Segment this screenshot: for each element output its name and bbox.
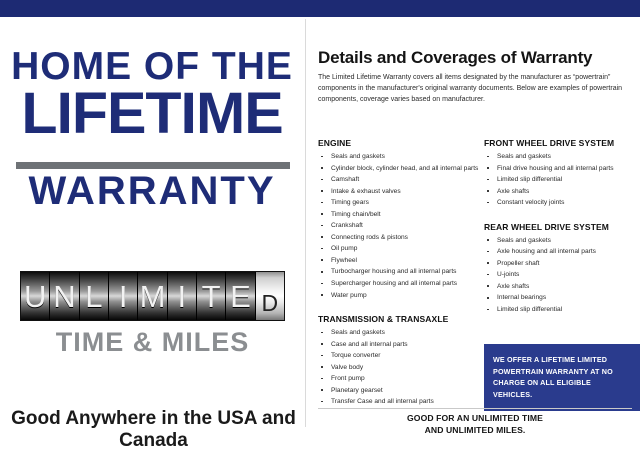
list-item: Seals and gaskets — [318, 328, 481, 337]
section-heading-rear-wheel-drive: REAR WHEEL DRIVE SYSTEM — [484, 222, 640, 232]
list-item: Crankshaft — [318, 221, 481, 230]
section-heading-transmission: TRANSMISSION & TRANSAXLE — [318, 314, 481, 324]
list-item: Seals and gaskets — [484, 236, 640, 245]
list-item: Camshaft — [318, 175, 481, 184]
list-item: Water pump — [318, 291, 481, 300]
list-item: Limited slip differential — [484, 305, 640, 314]
list-item: U-joints — [484, 270, 640, 279]
headline-line-2: LIFETIME — [1, 85, 303, 143]
left-brand-panel: HOME OF THE LIFETIME WARRANTY U N L I M … — [0, 19, 305, 427]
list-item: Axle shafts — [484, 282, 640, 291]
odometer-cell: M — [138, 272, 167, 320]
list-item: Case and all internal parts — [318, 340, 481, 349]
section-heading-engine: ENGINE — [318, 138, 481, 148]
list-item: Torque converter — [318, 351, 481, 360]
list-item: Internal bearings — [484, 293, 640, 302]
odometer-char: U — [24, 281, 46, 312]
list-item: Connecting rods & pistons — [318, 233, 481, 242]
list-item: Flywheel — [318, 256, 481, 265]
odometer-char: D — [261, 292, 278, 315]
details-intro-paragraph: The Limited Lifetime Warranty covers all… — [318, 73, 632, 106]
list-item: Constant velocity joints — [484, 198, 640, 207]
odometer-cell: N — [50, 272, 79, 320]
front-wheel-drive-list: Seals and gaskets Final drive housing an… — [484, 152, 640, 208]
list-item: Seals and gaskets — [318, 152, 481, 161]
odometer-cell: T — [197, 272, 226, 320]
list-item: Intake & exhaust valves — [318, 187, 481, 196]
odometer-cell-rolling: D — [256, 272, 284, 320]
odometer-char: M — [140, 281, 166, 312]
odometer-cell: E — [226, 272, 255, 320]
section-spacer — [484, 210, 640, 222]
odometer-cell: U — [21, 272, 50, 320]
list-item: Limited slip differential — [484, 175, 640, 184]
footer-divider-rule — [318, 408, 632, 409]
list-item: Transfer Case and all internal parts — [318, 397, 481, 406]
footer-note: GOOD FOR AN UNLIMITED TIME AND UNLIMITED… — [318, 413, 632, 437]
list-item: Supercharger housing and all internal pa… — [318, 279, 481, 288]
warranty-flyer: HOME OF THE LIFETIME WARRANTY U N L I M … — [0, 0, 640, 427]
engine-list: Seals and gaskets Cylinder block, cylind… — [318, 152, 481, 300]
details-title: Details and Coverages of Warranty — [318, 48, 592, 68]
list-item: Oil pump — [318, 244, 481, 253]
headline-line-3: WARRANTY — [6, 171, 298, 211]
list-item: Front pump — [318, 374, 481, 383]
list-item: Planetary gearset — [318, 386, 481, 395]
list-item: Final drive housing and all internal par… — [484, 164, 640, 173]
odometer-char: I — [119, 281, 128, 312]
list-item: Timing gears — [318, 198, 481, 207]
odometer-cell: L — [80, 272, 109, 320]
section-heading-front-wheel-drive: FRONT WHEEL DRIVE SYSTEM — [484, 138, 640, 148]
footer-note-line-1: GOOD FOR AN UNLIMITED TIME — [318, 413, 632, 425]
odometer-char: T — [202, 281, 221, 312]
coverage-column-right: FRONT WHEEL DRIVE SYSTEM Seals and gaske… — [484, 138, 640, 317]
top-navy-bar — [0, 0, 640, 17]
section-spacer — [318, 302, 481, 314]
odometer-char: E — [230, 281, 251, 312]
odometer-cell: I — [109, 272, 138, 320]
list-item: Timing chain/belt — [318, 210, 481, 219]
lifetime-warranty-callout: WE OFFER A LIFETIME LIMITED POWERTRAIN W… — [484, 344, 640, 411]
odometer-char: I — [177, 281, 186, 312]
coverage-column-left: ENGINE Seals and gaskets Cylinder block,… — [318, 138, 481, 409]
right-details-panel: Details and Coverages of Warranty The Li… — [306, 19, 640, 427]
odometer-cell: I — [168, 272, 197, 320]
rear-wheel-drive-list: Seals and gaskets Axle housing and all i… — [484, 236, 640, 315]
transmission-list: Seals and gaskets Case and all internal … — [318, 328, 481, 407]
headline-divider-rule — [16, 162, 290, 169]
list-item: Cylinder block, cylinder head, and all i… — [318, 164, 481, 173]
list-item: Propeller shaft — [484, 259, 640, 268]
odometer-graphic: U N L I M I T E D — [20, 271, 285, 321]
list-item: Seals and gaskets — [484, 152, 640, 161]
time-and-miles-label: TIME & MILES — [20, 327, 285, 358]
list-item: Valve body — [318, 363, 481, 372]
coverage-region-tagline: Good Anywhere in the USA and Canada — [6, 408, 301, 452]
odometer-char: N — [53, 281, 75, 312]
list-item: Axle shafts — [484, 187, 640, 196]
list-item: Turbocharger housing and all internal pa… — [318, 267, 481, 276]
odometer-char: L — [85, 281, 102, 312]
list-item: Axle housing and all internal parts — [484, 247, 640, 256]
